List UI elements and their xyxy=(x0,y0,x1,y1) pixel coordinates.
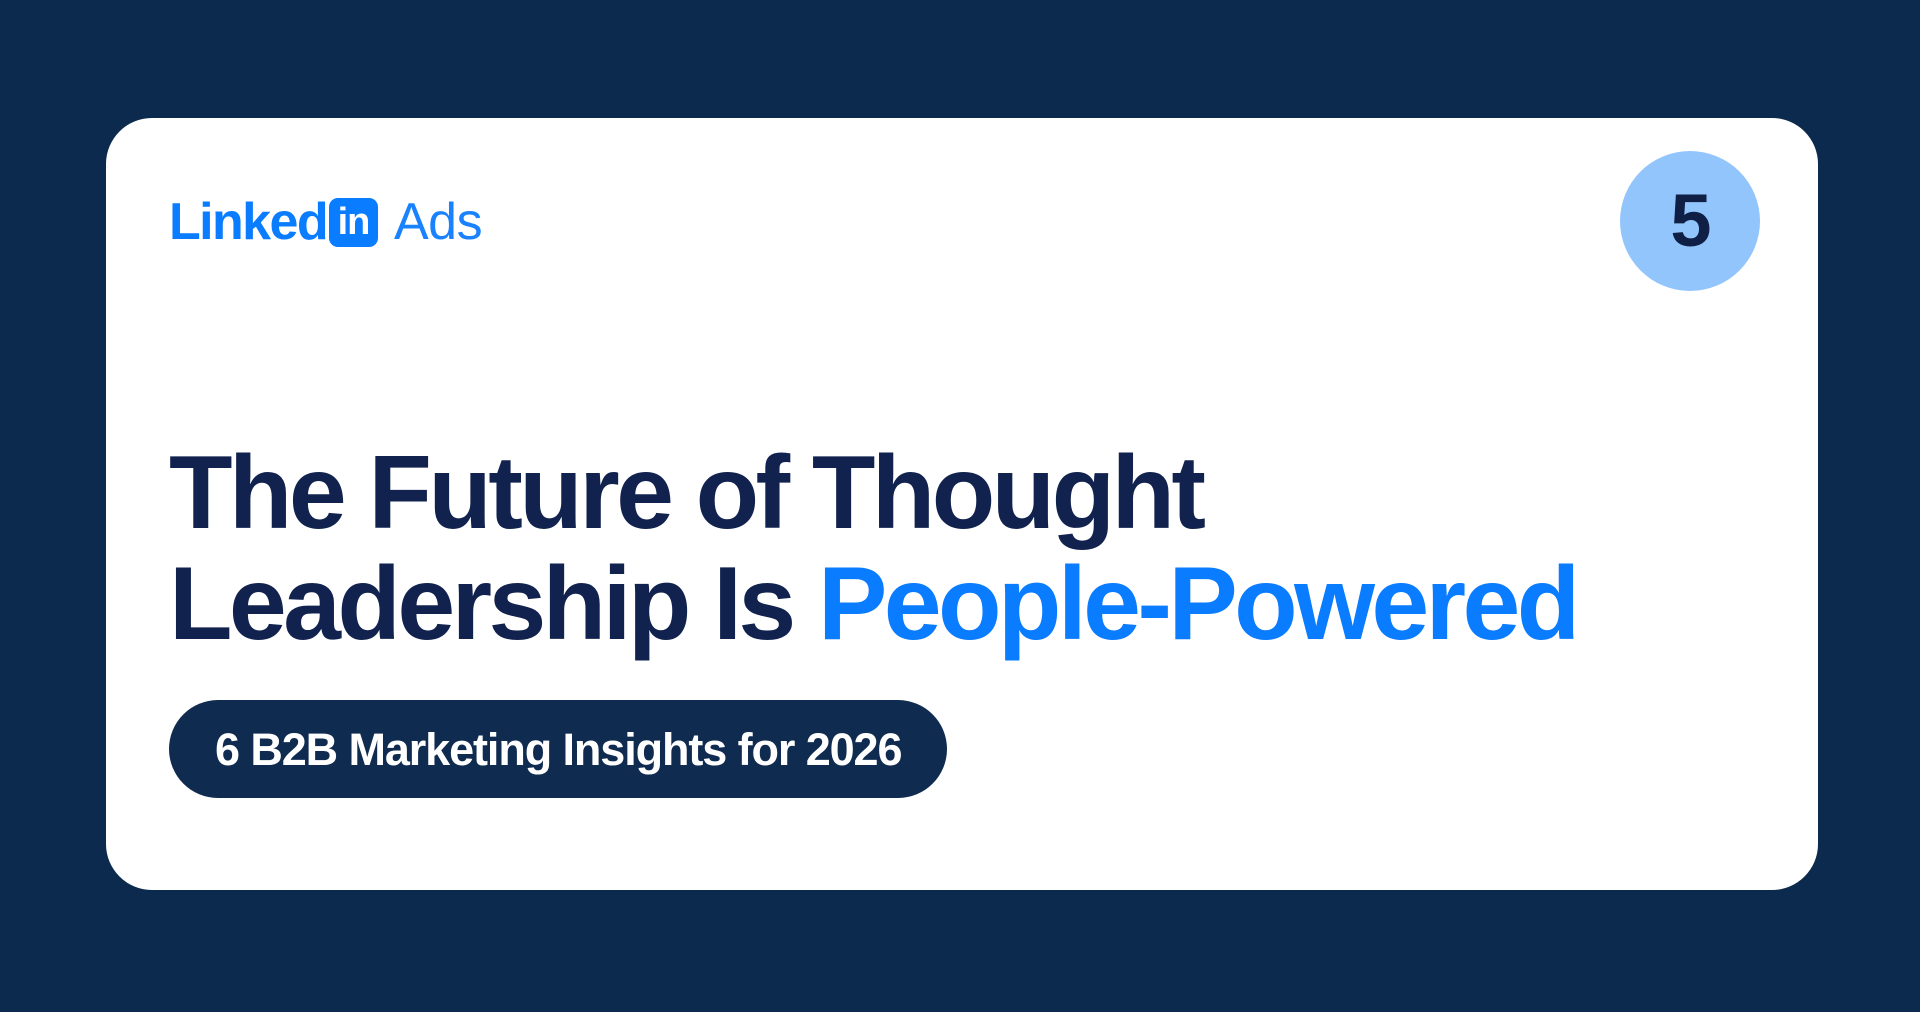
linkedin-in-icon-label: in xyxy=(329,203,378,241)
headline-line-1: The Future of Thought xyxy=(169,438,1769,549)
subtitle-pill: 6 B2B Marketing Insights for 2026 xyxy=(169,700,947,798)
linkedin-ads-logo: Linked in Ads xyxy=(169,191,482,253)
headline-accent-text: People-Powered xyxy=(818,546,1577,662)
linkedin-in-icon: in xyxy=(329,198,378,247)
slide-number-value: 5 xyxy=(1670,184,1709,258)
slide-root: Linked in Ads 5 The Future of Thought Le… xyxy=(0,0,1920,1012)
content-card: Linked in Ads 5 The Future of Thought Le… xyxy=(106,118,1818,890)
brand-linked-text: Linked xyxy=(169,196,327,248)
slide-number-badge: 5 xyxy=(1620,151,1760,291)
subtitle-pill-label: 6 B2B Marketing Insights for 2026 xyxy=(215,727,901,772)
headline-line-2-prefix: Leadership Is xyxy=(169,546,818,662)
page-title: The Future of Thought Leadership Is Peop… xyxy=(169,438,1769,661)
headline-line-2: Leadership Is People-Powered xyxy=(169,549,1769,660)
brand-ads-text: Ads xyxy=(394,196,482,248)
